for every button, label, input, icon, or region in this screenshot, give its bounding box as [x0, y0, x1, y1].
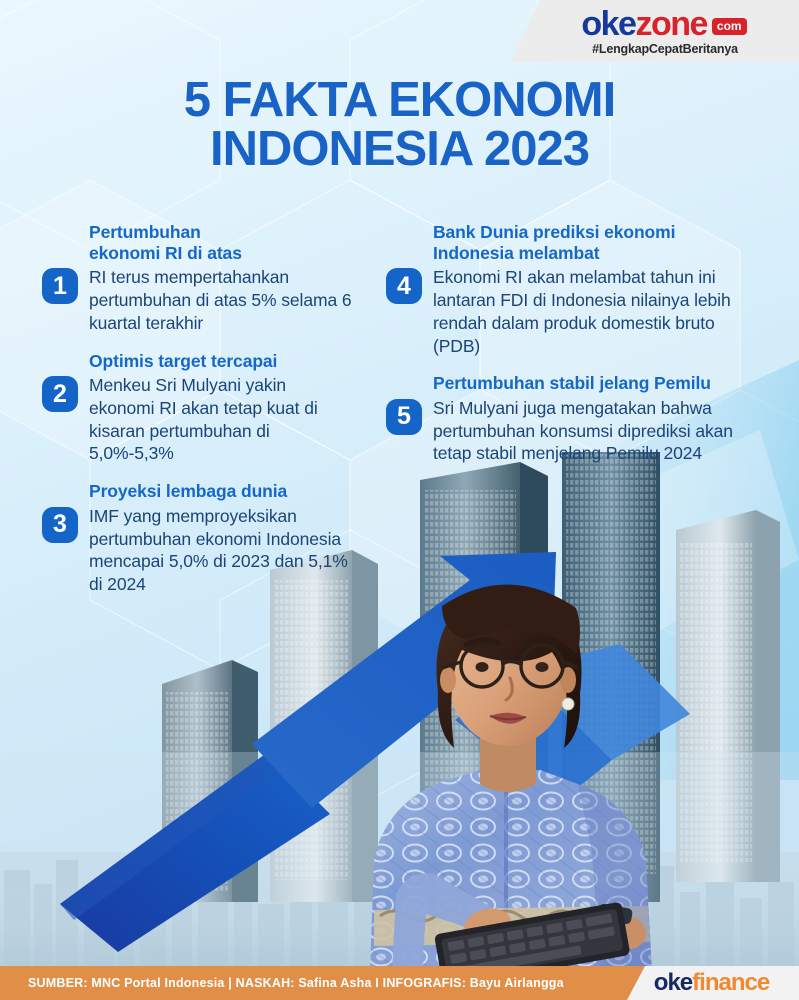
okezone-logo[interactable]: okezonecom #LengkapCepatBeritanya [511, 0, 799, 62]
fact-item-1: Pertumbuhan ekonomi RI di atas 1 RI teru… [42, 222, 352, 335]
fact-5-body: 5 Sri Mulyani juga mengatakan bahwa pert… [386, 397, 766, 465]
fact-1-number-badge: 1 [42, 268, 78, 304]
okezone-tagline: #LengkapCepatBeritanya [592, 42, 738, 56]
sri-mulyani-portrait [330, 502, 690, 972]
fact-item-3: Proyeksi lembaga dunia 3 IMF yang mempro… [42, 481, 352, 596]
fact-1-heading-line1: Pertumbuhan [89, 222, 201, 242]
fact-1-heading: Pertumbuhan ekonomi RI di atas [89, 222, 352, 263]
okefinance-finance-text: finance [692, 971, 769, 995]
page-title: 5 FAKTA EKONOMI INDONESIA 2023 [0, 76, 799, 173]
fact-2-number-badge: 2 [42, 376, 78, 412]
fact-item-4: Bank Dunia prediksi ekonomi Indonesia me… [386, 222, 766, 357]
facts-column-right: Bank Dunia prediksi ekonomi Indonesia me… [386, 222, 766, 481]
okezone-com-badge: com [712, 18, 747, 35]
fact-2-body: 2 Menkeu Sri Mulyani yakin ekonomi RI ak… [42, 374, 352, 465]
fact-3-heading: Proyeksi lembaga dunia [89, 481, 352, 502]
fact-1-text: RI terus mempertahankan pertumbuhan di a… [89, 266, 352, 334]
fact-2-heading: Optimis target tercapai [89, 351, 352, 372]
fact-2-text: Menkeu Sri Mulyani yakin ekonomi RI akan… [89, 374, 352, 465]
fact-4-heading: Bank Dunia prediksi ekonomi Indonesia me… [433, 222, 766, 263]
fact-4-heading-line2: Indonesia melambat [433, 243, 599, 263]
fact-5-heading: Pertumbuhan stabil jelang Pemilu [433, 373, 766, 394]
fact-1-heading-line2: ekonomi RI di atas [89, 243, 242, 263]
okezone-zone-text: zone [635, 7, 706, 41]
fact-3-text: IMF yang memproyeksikan pertumbuhan ekon… [89, 505, 352, 596]
facts-column-left: Pertumbuhan ekonomi RI di atas 1 RI teru… [42, 222, 352, 612]
okezone-oke-text: oke [581, 7, 635, 41]
fact-3-number-badge: 3 [42, 507, 78, 543]
okefinance-oke-text: oke [654, 971, 692, 995]
page-title-line1: 5 FAKTA EKONOMI [184, 73, 615, 127]
footer-bar: SUMBER: MNC Portal Indonesia | NASKAH: S… [0, 966, 799, 1000]
fact-3-body: 3 IMF yang memproyeksikan pertumbuhan ek… [42, 505, 352, 596]
fact-4-body: 4 Ekonomi RI akan melambat tahun ini lan… [386, 266, 766, 357]
fact-4-heading-line1: Bank Dunia prediksi ekonomi [433, 222, 675, 242]
fact-1-body: 1 RI terus mempertahankan pertumbuhan di… [42, 266, 352, 334]
fact-item-5: Pertumbuhan stabil jelang Pemilu 5 Sri M… [386, 373, 766, 465]
footer-credits: SUMBER: MNC Portal Indonesia | NASKAH: S… [28, 966, 564, 1000]
page-title-line2: INDONESIA 2023 [0, 125, 799, 174]
fact-5-text: Sri Mulyani juga mengatakan bahwa pertum… [433, 397, 766, 465]
fact-item-2: Optimis target tercapai 2 Menkeu Sri Mul… [42, 351, 352, 466]
okezone-wordmark: okezonecom [581, 7, 746, 41]
fact-4-text: Ekonomi RI akan melambat tahun ini lanta… [433, 266, 766, 357]
fact-4-number-badge: 4 [386, 268, 422, 304]
okefinance-logo[interactable]: okefinance [624, 966, 799, 1000]
infographic-poster: okezonecom #LengkapCepatBeritanya 5 FAKT… [0, 0, 799, 1000]
fact-5-number-badge: 5 [386, 399, 422, 435]
